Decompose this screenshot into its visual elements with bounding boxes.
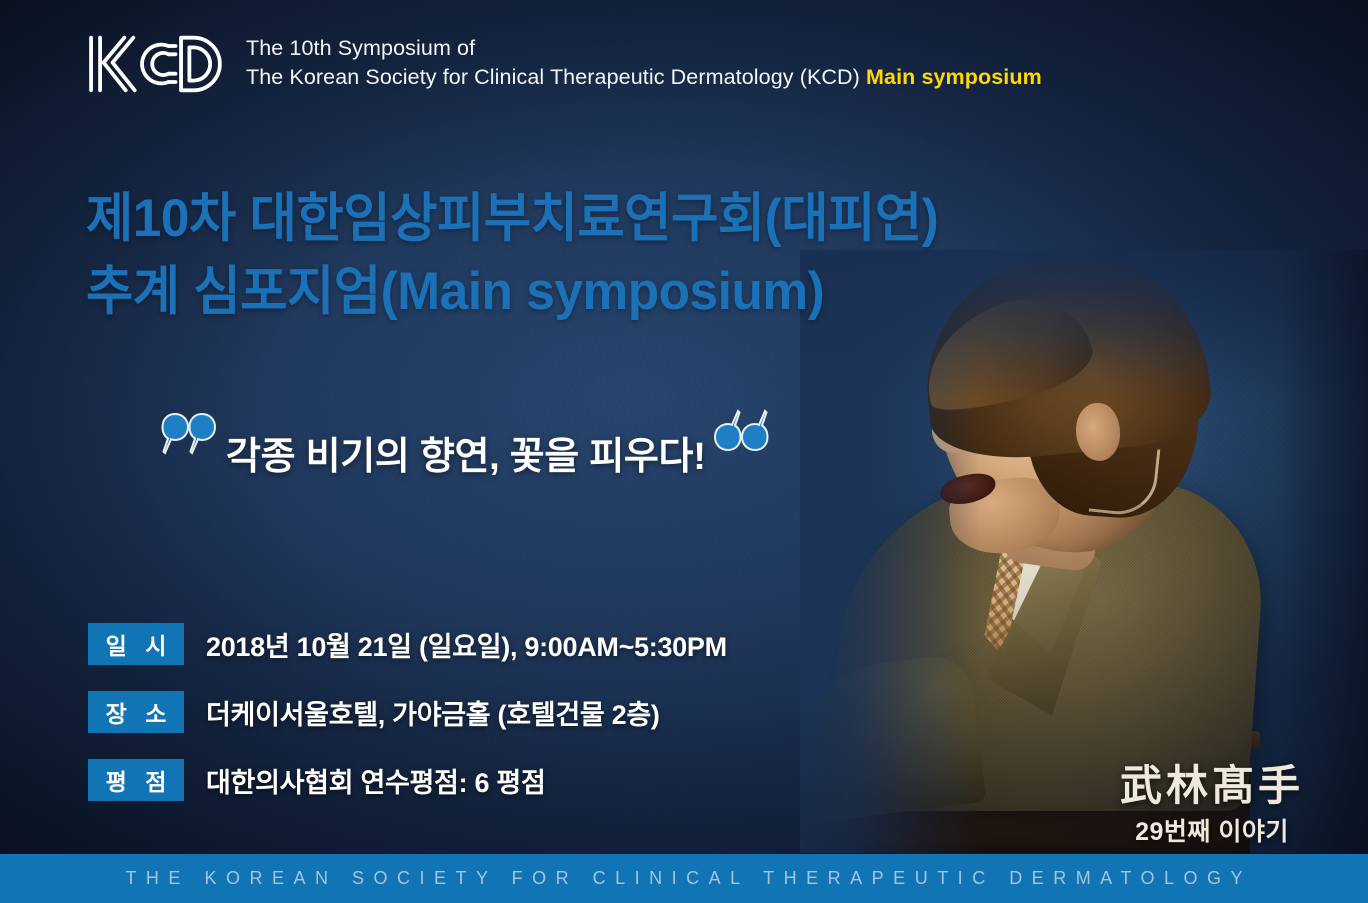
page-title: 제10차 대한임상피부치료연구회(대피연) 추계 심포지엄(Main sympo… — [86, 182, 938, 328]
detail-value-date: 2018년 10월 21일 (일요일), 9:00AM~5:30PM — [206, 625, 727, 664]
symposium-poster: The 10th Symposium of The Korean Society… — [0, 0, 1368, 903]
watermark-subtitle: 29번째 이야기 — [1120, 812, 1304, 848]
tagline-text: 각종 비기의 향연, 꽃을 피우다! — [226, 430, 706, 484]
detail-value-credits: 대한의사협회 연수평점: 6 평점 — [206, 761, 546, 800]
title-line-1: 제10차 대한임상피부치료연구회(대피연) — [86, 182, 938, 255]
tagline-quote: 각종 비기의 향연, 꽃을 피우다! — [160, 412, 770, 484]
detail-label-venue: 장 소 — [88, 691, 184, 733]
quote-open-icon — [160, 412, 218, 456]
detail-label-date: 일 시 — [88, 623, 184, 665]
detail-row-date: 일 시 2018년 10월 21일 (일요일), 9:00AM~5:30PM — [88, 622, 727, 666]
detail-value-venue: 더케이서울호텔, 가야금홀 (호텔건물 2층) — [206, 693, 660, 732]
series-watermark: 武林髙手 29번째 이야기 — [1120, 762, 1304, 848]
header-line-1: The 10th Symposium of — [246, 34, 1042, 63]
watermark-title: 武林髙手 — [1120, 762, 1304, 810]
detail-row-credits: 평 점 대한의사협회 연수평점: 6 평점 — [88, 758, 727, 802]
header-line-2-text: The Korean Society for Clinical Therapeu… — [246, 65, 866, 89]
title-line-2: 추계 심포지엄(Main symposium) — [86, 255, 938, 328]
header-main-symposium-highlight: Main symposium — [866, 65, 1042, 89]
header-line-2: The Korean Society for Clinical Therapeu… — [246, 63, 1042, 92]
detail-row-venue: 장 소 더케이서울호텔, 가야금홀 (호텔건물 2층) — [88, 690, 727, 734]
header-title-block: The 10th Symposium of The Korean Society… — [246, 28, 1042, 92]
poster-header: The 10th Symposium of The Korean Society… — [82, 28, 1042, 100]
quote-close-icon — [712, 408, 770, 452]
kcd-logo-icon — [82, 28, 222, 100]
footer-society-name: THE KOREAN SOCIETY FOR CLINICAL THERAPEU… — [116, 868, 1252, 889]
poster-footer: THE KOREAN SOCIETY FOR CLINICAL THERAPEU… — [0, 854, 1368, 903]
detail-label-credits: 평 점 — [88, 759, 184, 801]
event-details: 일 시 2018년 10월 21일 (일요일), 9:00AM~5:30PM 장… — [88, 622, 727, 802]
